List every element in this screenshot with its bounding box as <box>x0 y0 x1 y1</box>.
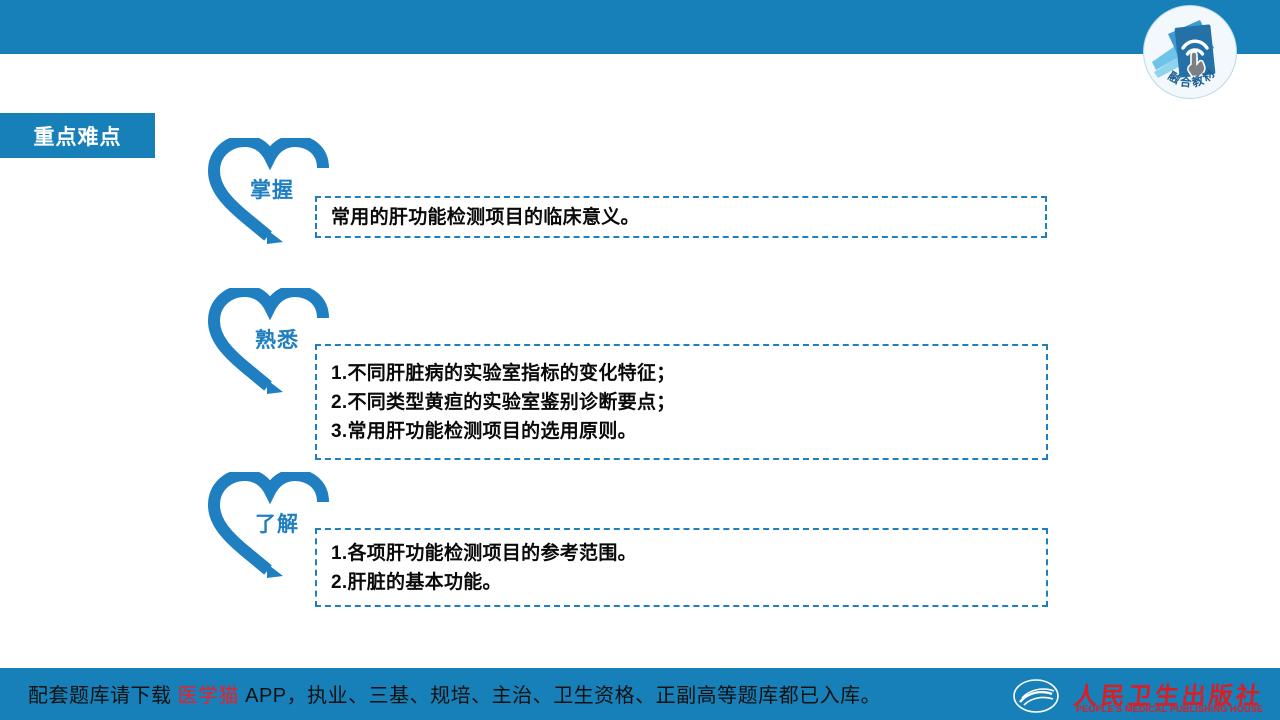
top-accent-band <box>0 0 1280 54</box>
objective-line: 1.不同肝脏病的实验室指标的变化特征； <box>331 359 1032 388</box>
badge-text: 融合教材 <box>1144 6 1236 98</box>
objective-level-label-2: 熟悉 <box>255 324 299 354</box>
publisher-mark-icon <box>1012 678 1068 714</box>
objective-line: 2.肝脏的基本功能。 <box>331 568 1032 597</box>
publisher-logo: 人民卫生出版社 PEOPLE'S MEDICAL PUBLISHING HOUS… <box>1012 676 1262 716</box>
slide-canvas: 融合教材 重点难点 掌握 常用的肝功能检测项目的临床意义。 熟悉 <box>0 0 1280 720</box>
objective-line: 常用的肝功能检测项目的临床意义。 <box>331 203 1031 232</box>
publisher-name-en: PEOPLE'S MEDICAL PUBLISHING HOUSE <box>1076 704 1263 714</box>
fusion-textbook-badge: 融合教材 <box>1144 6 1236 98</box>
footer-promo-text: 配套题库请下载 医学猫 APP，执业、三基、规培、主治、卫生资格、正副高等题库都… <box>28 679 881 708</box>
objective-content-box-3: 1.各项肝功能检测项目的参考范围。 2.肝脏的基本功能。 <box>315 528 1048 607</box>
section-title-tab: 重点难点 <box>0 113 155 158</box>
objective-level-label-1: 掌握 <box>250 174 294 204</box>
objective-line: 2.不同类型黄疸的实验室鉴别诊断要点； <box>331 388 1032 417</box>
objective-line: 3.常用肝功能检测项目的选用原则。 <box>331 417 1032 446</box>
objective-line: 1.各项肝功能检测项目的参考范围。 <box>331 539 1032 568</box>
objective-content-box-1: 常用的肝功能检测项目的临床意义。 <box>315 196 1047 238</box>
footer-text-before: 配套题库请下载 <box>28 685 178 707</box>
objective-level-label-3: 了解 <box>255 508 299 538</box>
footer-text-after: APP，执业、三基、规培、主治、卫生资格、正副高等题库都已入库。 <box>245 685 881 707</box>
objective-content-box-2: 1.不同肝脏病的实验室指标的变化特征； 2.不同类型黄疸的实验室鉴别诊断要点； … <box>315 344 1048 460</box>
badge-circle: 融合教材 <box>1144 6 1236 98</box>
section-title-label: 重点难点 <box>34 121 122 151</box>
svg-text:融合教材: 融合教材 <box>1166 65 1220 90</box>
badge-text-path: 融合教材 <box>1166 65 1220 90</box>
footer-app-name: 医学猫 <box>178 685 240 707</box>
